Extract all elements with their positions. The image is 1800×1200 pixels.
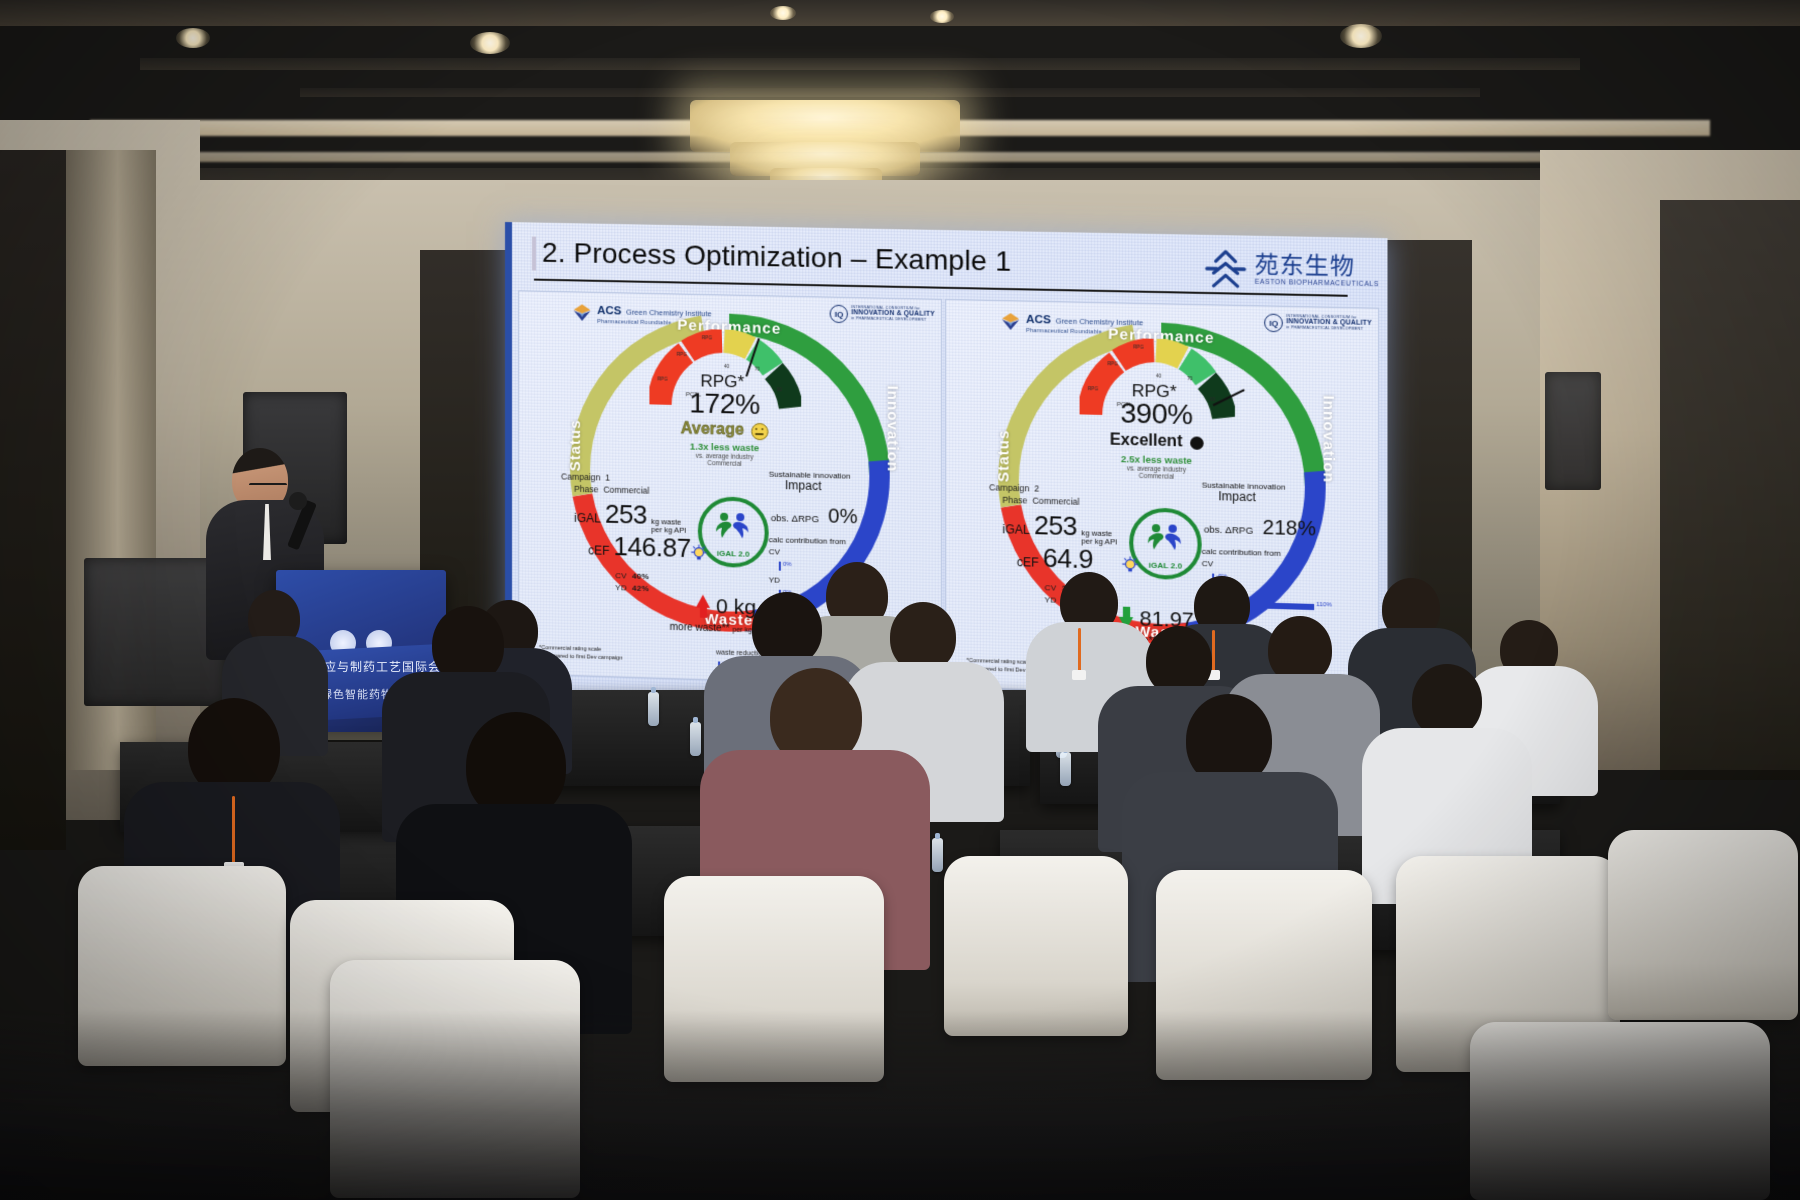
cef-key-left: cEF — [588, 543, 609, 558]
calc-cv-value-left: 0% — [783, 562, 792, 568]
gauge-tick: 90 — [1210, 397, 1215, 402]
calc-label-right: calc contribution from — [1202, 546, 1281, 561]
snowflake-logo-icon — [1204, 247, 1248, 291]
slide-title: 2. Process Optimization – Example 1 — [542, 237, 1011, 278]
calc-block-right: calc contribution from CV — [1202, 546, 1281, 573]
igal-badge-text-right: iGAL 2.0 — [1149, 561, 1182, 571]
phase-value-right: Commercial — [1032, 496, 1079, 507]
water-bottle — [932, 838, 943, 872]
gauge-tick: RPG — [1107, 361, 1117, 366]
delta-value-left: 0 kg — [716, 595, 756, 620]
brand-name-cn: 苑东生物 — [1255, 253, 1379, 279]
delta-sub-text-left: more waste** — [670, 622, 730, 635]
igal-key-right: iGAL — [1002, 522, 1029, 537]
campaign-value-right: 2 — [1034, 483, 1039, 493]
arrow-up-icon — [696, 594, 710, 619]
gauge-tick: RPG — [658, 376, 668, 381]
calc-cv-label-left: CV — [769, 547, 846, 562]
presenter-glasses — [249, 483, 287, 493]
chair — [944, 856, 1128, 1036]
obs-drpg-left: obs. ΔRPG 0% — [771, 504, 858, 529]
calc-label-left: calc contribution from — [769, 534, 846, 549]
screenshot-root: 2. Process Optimization – Example 1 苑东生物… — [0, 0, 1800, 1200]
arc-label-innovation: Innovation — [1319, 395, 1337, 483]
lightbulb-icon — [1121, 556, 1140, 575]
phase-label-right: Phase — [1002, 495, 1027, 506]
arc-label-status: Status — [566, 419, 583, 471]
filled-dot-icon — [1190, 436, 1203, 450]
water-bottle — [648, 692, 659, 726]
igal-2-badge-right: iGAL 2.0 — [1129, 507, 1202, 580]
yd-label-left: YD — [615, 583, 627, 592]
phase-label-left: Phase — [574, 484, 598, 495]
rpg-value-left: 172% — [689, 387, 759, 421]
right-drape — [1660, 200, 1800, 780]
obs-value-left: 0% — [828, 505, 857, 529]
campaign-value-left: 1 — [605, 473, 610, 483]
calc-block-left: calc contribution from CV — [769, 534, 846, 561]
less-waste-left: 1.3x less waste vs. average industry Com… — [690, 441, 759, 469]
people-icon — [713, 511, 751, 542]
campaign-block-left: Campaign 1 Phase Commercial — [561, 470, 649, 497]
calc-yd-label-left: YD — [769, 574, 780, 587]
cv-label-right: CV — [1045, 583, 1057, 592]
brand-name-en: EASTON BIOPHARMACEUTICALS — [1255, 279, 1379, 289]
igal-2-badge-left: iGAL 2.0 — [698, 496, 769, 568]
gauge-tick: RPG — [702, 335, 712, 340]
water-bottle — [1060, 752, 1071, 786]
obs-label-right: obs. ΔRPG — [1204, 524, 1253, 537]
gauge-tick: RPG — [677, 352, 687, 357]
obs-drpg-right: obs. ΔRPG 218% — [1204, 515, 1316, 541]
campaign-label-left: Campaign — [561, 471, 600, 482]
cef-value-right: 64.9 — [1043, 542, 1093, 575]
igal-key-left: iGAL — [574, 511, 601, 526]
gauge-tick: 70 — [1187, 376, 1192, 381]
pa-speaker-right — [1545, 372, 1601, 490]
cef-value-left: 146.87 — [614, 531, 691, 564]
yd-value-left: 42% — [632, 584, 649, 594]
rating-left: Average — [681, 420, 769, 440]
av-equipment — [84, 558, 226, 706]
cv-value-left: 40% — [632, 572, 649, 582]
chair — [1608, 830, 1798, 1020]
arc-label-status: Status — [994, 429, 1011, 482]
calc-cv-label-right: CV — [1202, 558, 1281, 573]
ceiling-downlight — [770, 6, 796, 20]
calc-yd-value-right: 110% — [1316, 602, 1332, 609]
igal-badge-text-left: iGAL 2.0 — [717, 549, 750, 559]
gauge-tick: RPG — [1088, 386, 1098, 391]
calc-yd-label-wrap-left: YD — [769, 574, 780, 587]
water-bottle — [690, 722, 701, 756]
lightbulb-icon — [690, 544, 708, 563]
cef-metric-right: cEF 64.9 — [1017, 542, 1093, 576]
obs-value-right: 218% — [1263, 517, 1316, 542]
ceiling-downlight — [176, 28, 210, 48]
yd-label-right: YD — [1045, 595, 1057, 604]
rating-right: Excellent — [1110, 431, 1203, 452]
igal-value-right: 253 — [1034, 510, 1077, 543]
gauge-tick: RPG — [1133, 344, 1143, 349]
cvyd-left: CV 40% YD 42% — [615, 570, 649, 595]
rpg-value-right: 390% — [1120, 397, 1192, 431]
microphone-head-icon — [289, 492, 307, 510]
delta-waste-left: 0 kg — [696, 594, 756, 620]
cef-key-right: cEF — [1017, 555, 1039, 570]
cv-label-left: CV — [615, 571, 627, 580]
ceiling-edge — [0, 0, 1800, 26]
title-accent-bar — [532, 237, 536, 271]
rating-text-left: Average — [681, 420, 744, 440]
delta-sub-left: more waste** per kg API — [670, 622, 766, 636]
arc-label-innovation: Innovation — [884, 386, 901, 473]
brand-logo: 苑东生物 EASTON BIOPHARMACEUTICALS — [1204, 247, 1379, 293]
gauge-tick: 40 — [1156, 373, 1161, 378]
calc-cv-bar-left — [779, 562, 781, 571]
less-waste-right: 2.5x less waste vs. average industry Com… — [1121, 454, 1192, 482]
obs-label-left: obs. ΔRPG — [771, 513, 819, 525]
sustainable-impact-right: Sustainable innovation Impact — [1202, 480, 1286, 505]
rating-text-right: Excellent — [1110, 431, 1183, 451]
gauge-tick: 70 — [755, 367, 760, 372]
ceiling-beam-1 — [140, 58, 1580, 70]
igal-value-left: 253 — [605, 499, 647, 531]
neutral-face-icon — [751, 422, 768, 440]
foreground-shadow — [0, 1010, 1800, 1200]
phase-value-left: Commercial — [603, 485, 649, 496]
cef-metric-left: cEF 146.87 — [588, 530, 691, 564]
gauge-tick: 40 — [724, 364, 729, 369]
campaign-block-right: Campaign 2 Phase Commercial — [989, 481, 1080, 509]
ceiling-downlight — [1340, 24, 1382, 48]
ceiling-downlight — [930, 10, 954, 23]
campaign-label-right: Campaign — [989, 482, 1029, 493]
sustainable-impact-left: Sustainable innovation Impact — [769, 470, 851, 494]
ceiling-downlight — [470, 32, 510, 54]
left-drape — [0, 150, 66, 850]
gauge-tick: 90 — [777, 387, 782, 392]
people-icon — [1145, 523, 1184, 555]
ceiling-beam-2 — [300, 88, 1480, 97]
